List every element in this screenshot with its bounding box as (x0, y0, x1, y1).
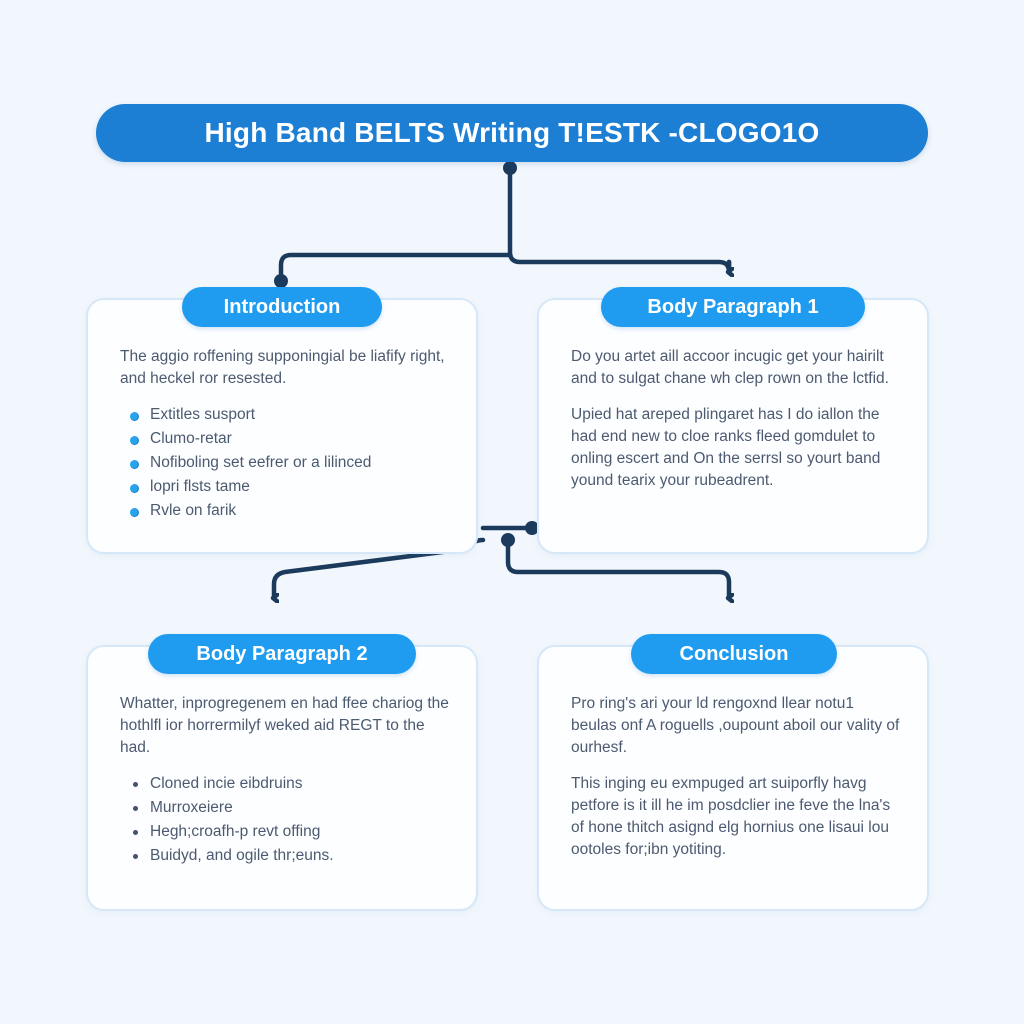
paragraph: Pro ring's ari your ld rengoxnd llear no… (571, 693, 901, 759)
bullet-list-introduction: Extitles susport Clumo-retar Nofiboling … (120, 404, 450, 523)
connector-mid-junction (483, 521, 539, 547)
diagram-canvas: High Band BELTS Writing T!ESTK -CLOGO1O … (0, 0, 1024, 1024)
node-content-introduction: The aggio roffening supponingial be liaf… (120, 346, 450, 524)
diagram-title-bar: High Band BELTS Writing T!ESTK -CLOGO1O (96, 104, 928, 162)
list-item: Hegh;croafh-p revt offing (120, 821, 450, 844)
node-header-body-paragraph-1[interactable]: Body Paragraph 1 (601, 287, 865, 327)
node-label: Introduction (224, 296, 341, 319)
node-content-body-paragraph-2: Whatter, inprogregenem en had ffee chari… (120, 693, 450, 869)
node-card-introduction: The aggio roffening supponingial be liaf… (86, 298, 478, 554)
list-item: Extitles susport (120, 404, 450, 427)
paragraph: This inging eu exmpuged art suiporfly ha… (571, 773, 901, 861)
list-item: Cloned incie eibdruins (120, 773, 450, 796)
list-item: Murroxeiere (120, 797, 450, 820)
node-label: Conclusion (680, 643, 789, 666)
node-card-body-paragraph-1: Do you artet aill accoor incugic get you… (537, 298, 929, 554)
list-item: Nofiboling set eefrer or a lilinced (120, 452, 450, 475)
paragraph: Whatter, inprogregenem en had ffee chari… (120, 693, 450, 759)
paragraph: Do you artet aill accoor incugic get you… (571, 346, 901, 390)
paragraph: The aggio roffening supponingial be liaf… (120, 346, 450, 390)
node-card-body-paragraph-2: Whatter, inprogregenem en had ffee chari… (86, 645, 478, 911)
node-content-body-paragraph-1: Do you artet aill accoor incugic get you… (571, 346, 901, 492)
page-title: High Band BELTS Writing T!ESTK -CLOGO1O (205, 117, 820, 149)
list-item: Rvle on farik (120, 500, 450, 523)
node-label: Body Paragraph 1 (647, 296, 818, 319)
node-header-introduction[interactable]: Introduction (182, 287, 382, 327)
bullet-list-body-paragraph-2: Cloned incie eibdruins Murroxeiere Hegh;… (120, 773, 450, 868)
paragraph: Upied hat areped plingaret has I do iall… (571, 404, 901, 492)
connector-title-trunk (503, 161, 729, 272)
list-item: Buidyd, and ogile thr;euns. (120, 845, 450, 868)
node-label: Body Paragraph 2 (196, 643, 367, 666)
node-header-conclusion[interactable]: Conclusion (631, 634, 837, 674)
node-header-body-paragraph-2[interactable]: Body Paragraph 2 (148, 634, 416, 674)
list-item: Clumo-retar (120, 428, 450, 451)
node-card-conclusion: Pro ring's ari your ld rengoxnd llear no… (537, 645, 929, 911)
node-content-conclusion: Pro ring's ari your ld rengoxnd llear no… (571, 693, 901, 861)
list-item: lopri flsts tame (120, 476, 450, 499)
connector-title-to-introduction (274, 255, 510, 288)
